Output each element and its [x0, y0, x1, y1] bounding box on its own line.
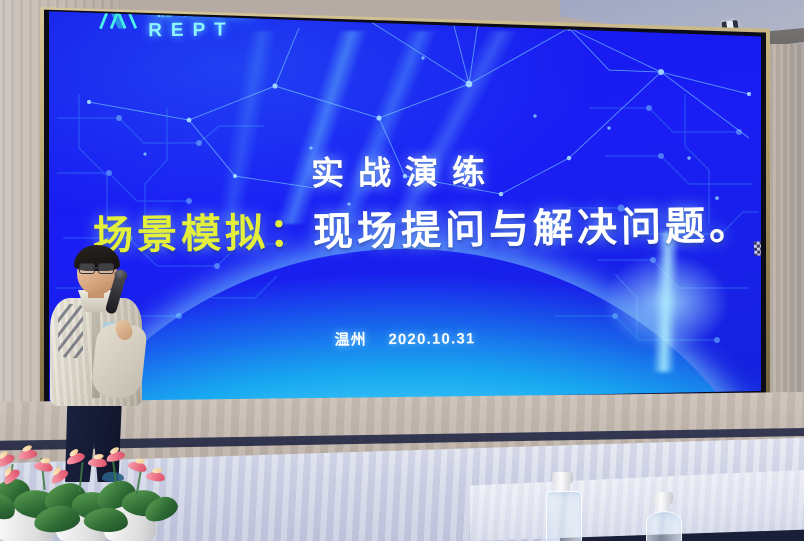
- footer-date: 2020.10.31: [388, 330, 475, 348]
- footer-location: 温州: [334, 331, 367, 348]
- slide-title-line1: 实战演练: [49, 143, 761, 197]
- plant-flower: [145, 470, 165, 482]
- plant-flower: [127, 459, 148, 473]
- logo-company-en: REPT: [148, 20, 256, 40]
- slide-title-line2: 场景模拟：现场提问与解决问题。: [93, 193, 754, 261]
- plant-flower: [33, 460, 54, 473]
- slide-title-rest: 现场提问与解决问题。: [313, 204, 754, 255]
- plant-flower: [105, 450, 126, 463]
- slide-footer: 温州 2020.10.31: [49, 324, 761, 352]
- plant-flower: [88, 457, 108, 468]
- led-screen: 瑞浦能源 REPT 实战演练 场景模拟：现场提问与解决问题。 温州 2020.1…: [49, 0, 761, 416]
- jacket-stripes: [58, 304, 83, 358]
- photo-scene: 瑞浦能源 REPT 实战演练 场景模拟：现场提问与解决问题。 温州 2020.1…: [0, 0, 804, 541]
- potted-plants: [0, 428, 218, 541]
- bottle-body: [646, 511, 682, 541]
- slide-content: 瑞浦能源 REPT 实战演练 场景模拟：现场提问与解决问题。 温州 2020.1…: [49, 0, 761, 416]
- bottle-body: [546, 491, 582, 541]
- glasses-icon: [79, 263, 116, 272]
- screen-glitch-artifact: [754, 240, 761, 256]
- plant-flower: [17, 449, 37, 461]
